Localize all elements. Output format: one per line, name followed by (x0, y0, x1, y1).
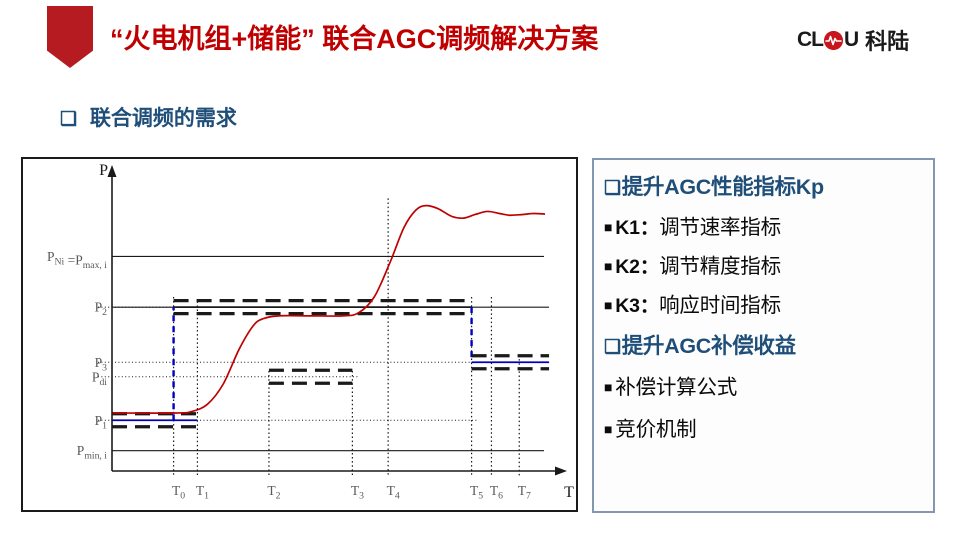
title-banner-shape (47, 6, 93, 68)
logo-latin-left: CL (797, 28, 823, 52)
page-title: “火电机组+储能” 联合AGC调频解决方案 (110, 18, 770, 60)
y-axis-tick-label-P1: P1 (95, 413, 108, 432)
y-axis-tick-label-P2: P2 (95, 300, 108, 319)
list-item-key: K1： (615, 217, 659, 239)
x-axis-tick-label-T1: T1 (196, 483, 209, 502)
x-axis-tick-label-T0: T0 (172, 483, 185, 502)
y-axis-arrowhead-icon (108, 165, 117, 177)
x-axis-tick-label-T4: T4 (387, 483, 400, 502)
hollow-square-bullet-icon: ❑ (60, 109, 77, 130)
logo-latin-right: U (844, 28, 858, 52)
info-group-compensation: ❑提升AGC补偿收益 ■补偿计算公式 ■竞价机制 (604, 329, 927, 442)
info-group-performance-heading: ❑提升AGC性能指标Kp (604, 170, 927, 201)
x-axis-tick-label-T3: T3 (351, 483, 364, 502)
agc-response-chart-panel: PNi =Pmax, iP2P3PdiP1Pmin, iT0T1T2T3T4T5… (21, 157, 578, 512)
hollow-square-bullet-icon: ❑ (604, 178, 621, 199)
list-item-label: 补偿计算公式 (615, 376, 737, 399)
section-heading-label: 联合调频的需求 (90, 107, 237, 130)
info-group-performance-title: 提升AGC性能指标Kp (622, 175, 824, 199)
logo-latin-text: CL U (797, 28, 858, 52)
x-axis-arrowhead-icon (555, 467, 567, 476)
list-item-label: 竞价机制 (615, 418, 696, 441)
y-axis-tick-label-P_Ni =P_max, i: PNi =Pmax, i (47, 249, 107, 271)
x-axis-tick-label-T7: T7 (518, 483, 531, 502)
logo-chinese-text: 科陆 (865, 24, 909, 56)
filled-square-bullet-icon: ■ (604, 421, 612, 437)
section-heading: ❑ 联合调频的需求 (60, 102, 237, 132)
list-item: ■竞价机制 (604, 412, 927, 442)
list-item: ■K1：调节速率指标 (604, 210, 927, 240)
list-item: ■补偿计算公式 (604, 370, 927, 400)
filled-square-bullet-icon: ■ (604, 258, 612, 274)
list-item-label: 响应时间指标 (659, 294, 781, 317)
x-axis-title: T (564, 484, 574, 501)
chart-render-layer: PNi =Pmax, iP2P3PdiP1Pmin, iT0T1T2T3T4T5… (47, 162, 574, 502)
filled-square-bullet-icon: ■ (604, 379, 612, 395)
info-group-performance: ❑提升AGC性能指标Kp ■K1：调节速率指标 ■K2：调节精度指标 ■K3：响… (604, 170, 927, 318)
info-group-compensation-heading: ❑提升AGC补偿收益 (604, 329, 927, 360)
y-axis-title: P (99, 162, 108, 179)
x-axis-tick-label-T2: T2 (267, 483, 280, 502)
filled-square-bullet-icon: ■ (604, 219, 612, 235)
list-item-label: 调节精度指标 (659, 255, 781, 278)
list-item-label: 调节速率指标 (659, 216, 781, 239)
list-item-key: K2： (615, 256, 659, 278)
list-item-key: K3： (615, 295, 659, 317)
list-item: ■K3：响应时间指标 (604, 288, 927, 318)
waveform-circle-icon (824, 31, 843, 50)
agc-response-chart: PNi =Pmax, iP2P3PdiP1Pmin, iT0T1T2T3T4T5… (23, 159, 576, 510)
x-axis-tick-label-T5: T5 (470, 483, 483, 502)
list-item: ■K2：调节精度指标 (604, 249, 927, 279)
filled-square-bullet-icon: ■ (604, 297, 612, 313)
x-axis-tick-label-T6: T6 (490, 483, 503, 502)
brand-logo: CL U 科陆 (797, 27, 909, 53)
hollow-square-bullet-icon: ❑ (604, 337, 621, 358)
requirements-info-panel: ❑提升AGC性能指标Kp ■K1：调节速率指标 ■K2：调节精度指标 ■K3：响… (592, 158, 935, 513)
y-axis-tick-label-Pmin, i: Pmin, i (77, 443, 107, 462)
info-group-compensation-title: 提升AGC补偿收益 (622, 334, 796, 358)
